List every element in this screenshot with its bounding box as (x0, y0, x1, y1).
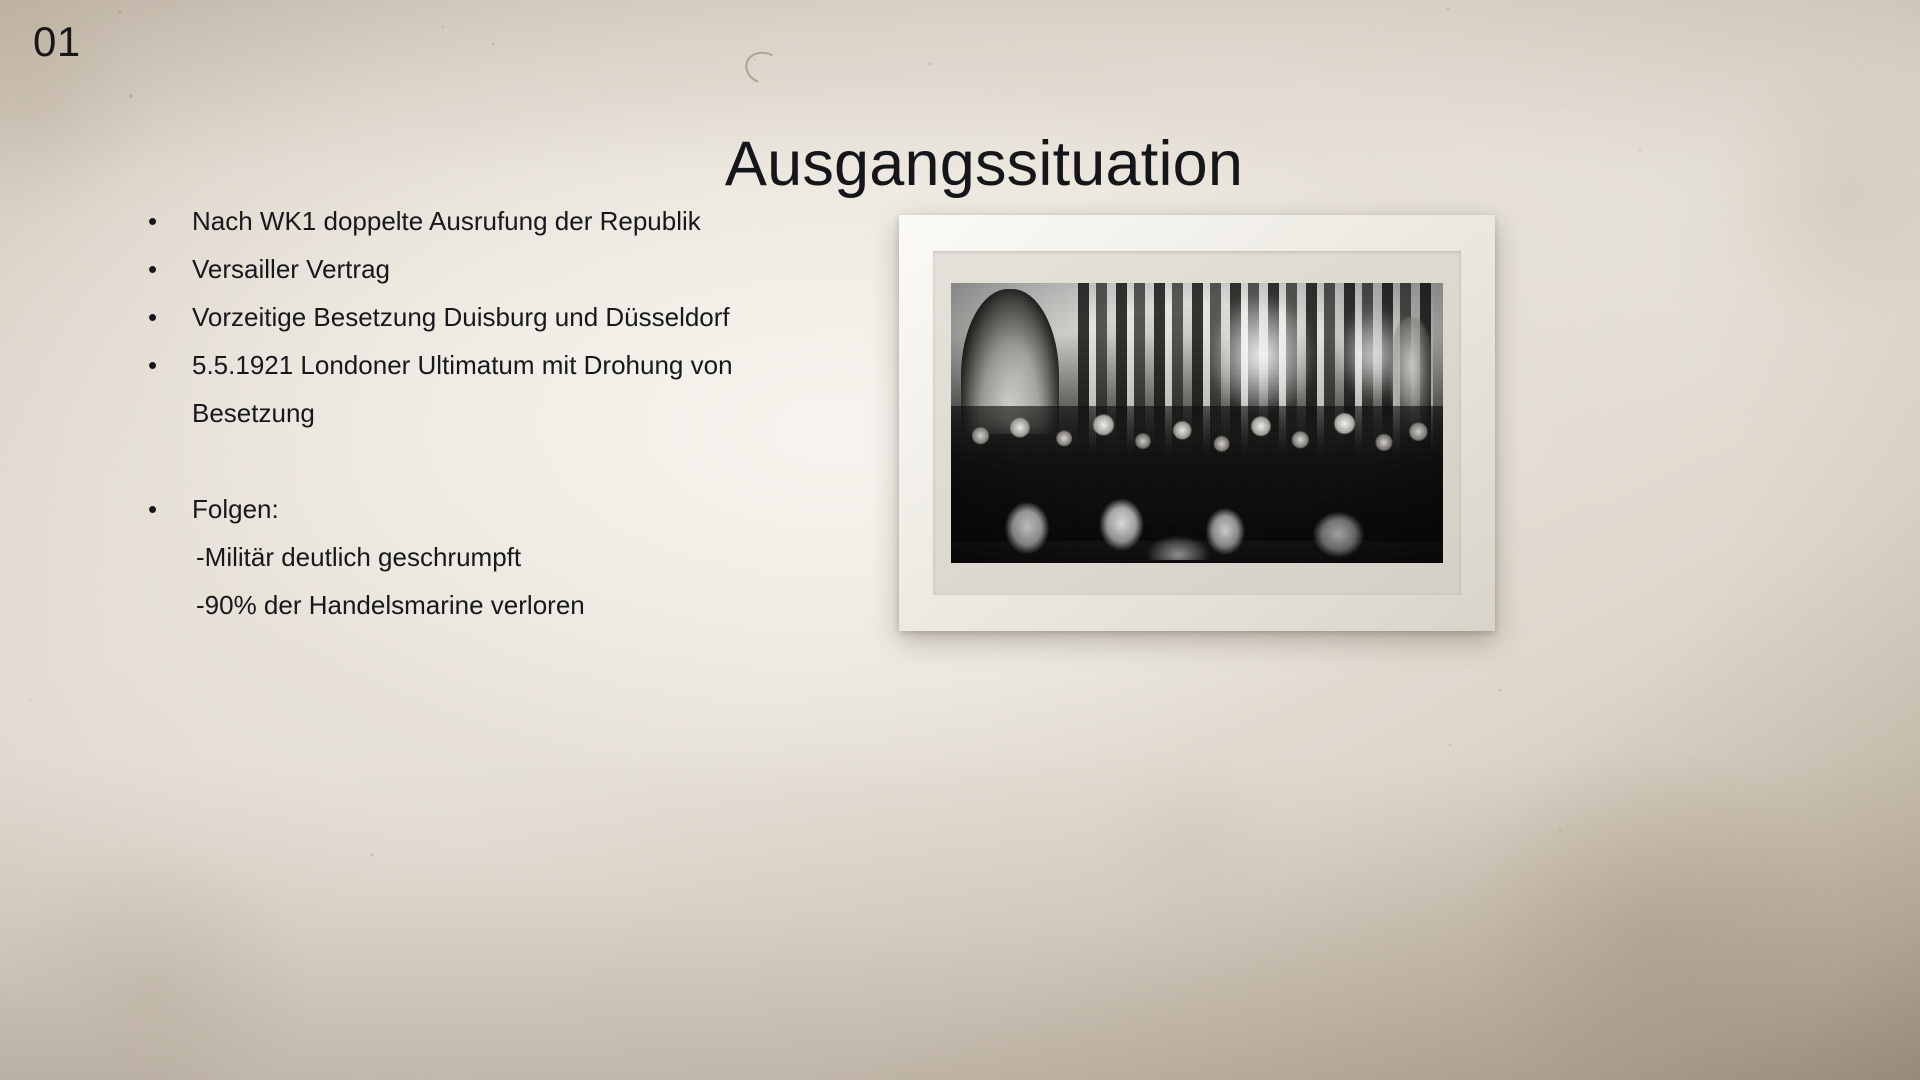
list-item-folgen: • Folgen: (140, 485, 910, 533)
list-item-continuation: Besetzung (140, 389, 910, 437)
photo-vignette (951, 283, 1443, 563)
indent-spacer (140, 389, 192, 437)
photo-mat (933, 251, 1461, 595)
bullet-list: • Nach WK1 doppelte Ausrufung der Republ… (140, 197, 910, 629)
bullet-point-icon: • (140, 245, 192, 293)
sub-list-item: -Militär deutlich geschrumpft (140, 533, 910, 581)
list-item-label: Vorzeitige Besetzung Duisburg und Düssel… (192, 293, 910, 341)
list-item-label: Folgen: (192, 485, 910, 533)
list-item-label: 5.5.1921 Londoner Ultimatum mit Drohung … (192, 341, 910, 389)
framed-photo (899, 215, 1495, 631)
sub-list-item-label: -90% der Handelsmarine verloren (196, 581, 585, 629)
bullet-point-icon: • (140, 485, 192, 533)
sub-list-item-label: -Militär deutlich geschrumpft (196, 533, 521, 581)
bullet-point-icon: • (140, 293, 192, 341)
list-item: • Nach WK1 doppelte Ausrufung der Republ… (140, 197, 910, 245)
list-item: • Vorzeitige Besetzung Duisburg und Düss… (140, 293, 910, 341)
page-title: Ausgangssituation (0, 128, 1920, 200)
versailles-treaty-signing-photo (951, 283, 1443, 563)
slide-number: 01 (33, 21, 81, 63)
list-item-label: Nach WK1 doppelte Ausrufung der Republik (192, 197, 910, 245)
list-item: • Versailler Vertrag (140, 245, 910, 293)
indent-spacer (140, 581, 196, 629)
bullet-point-icon: • (140, 341, 192, 389)
list-item: • 5.5.1921 Londoner Ultimatum mit Drohun… (140, 341, 910, 389)
indent-spacer (140, 533, 196, 581)
bullet-point-icon: • (140, 197, 192, 245)
presentation-slide: 01 Ausgangssituation • Nach WK1 doppelte… (0, 0, 1920, 1080)
sub-list-item: -90% der Handelsmarine verloren (140, 581, 910, 629)
list-item-label: Versailler Vertrag (192, 245, 910, 293)
list-item-continuation-label: Besetzung (192, 389, 315, 437)
